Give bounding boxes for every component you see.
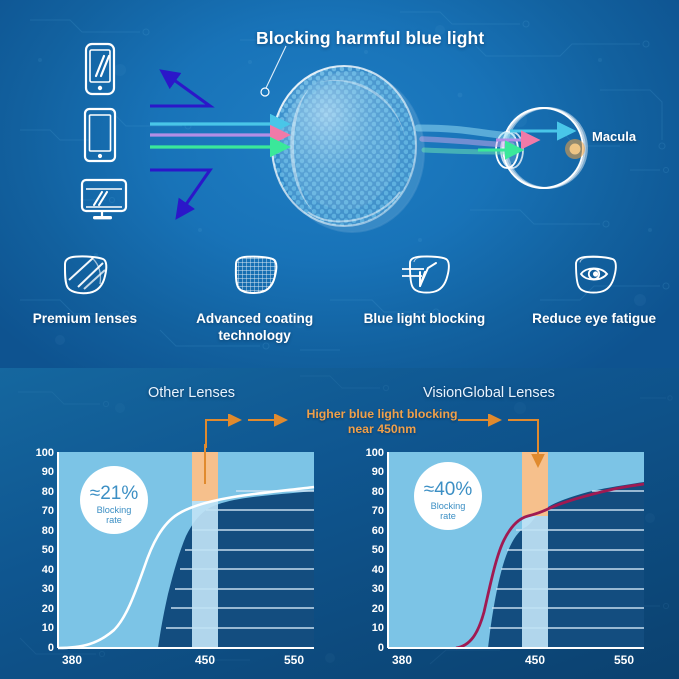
svg-text:50: 50 (372, 544, 384, 556)
svg-text:Blocking: Blocking (97, 505, 132, 515)
svg-text:90: 90 (372, 466, 384, 478)
blocking-rate-badge-left: ≈21% Blocking rate (80, 466, 148, 534)
chart-title-right: VisionGlobal Lenses (423, 385, 555, 401)
svg-text:50: 50 (42, 544, 54, 556)
svg-text:80: 80 (42, 486, 54, 498)
svg-text:80: 80 (42, 525, 54, 537)
feature-reduce-eye-fatigue: Reduce eye fatigue (509, 252, 679, 362)
svg-text:450: 450 (195, 653, 215, 667)
feature-blue-light-blocking: Blue light blocking (340, 252, 510, 362)
chart-title-left: Other Lenses (148, 385, 235, 401)
svg-text:100: 100 (366, 447, 384, 459)
svg-text:20: 20 (372, 603, 384, 615)
light-ray-diagram (0, 0, 679, 260)
infographic-root: Blocking harmful blue light (0, 0, 679, 679)
svg-text:10: 10 (42, 622, 54, 634)
feature-premium-lenses: Premium lenses (0, 252, 170, 362)
svg-text:rate: rate (106, 515, 122, 525)
svg-text:0: 0 (378, 642, 384, 654)
feature-label: Premium lenses (5, 311, 165, 328)
svg-text:20: 20 (42, 603, 54, 615)
lens-eye-icon (568, 252, 620, 298)
annotation-higher-blocking: Higher blue light blocking near 450nm (297, 407, 467, 437)
annotation-arrow-left (182, 414, 302, 454)
svg-text:30: 30 (42, 583, 54, 595)
svg-text:10: 10 (372, 622, 384, 634)
feature-label: Reduce eye fatigue (514, 311, 674, 328)
svg-text:380: 380 (392, 653, 412, 667)
feature-label: Blue light blocking (344, 311, 504, 328)
svg-text:40: 40 (372, 564, 384, 576)
lens-blocked-rays-icon (398, 252, 450, 298)
annotation-arrow-right (456, 414, 586, 482)
svg-text:80: 80 (372, 486, 384, 498)
svg-text:40: 40 (42, 564, 54, 576)
svg-text:380: 380 (62, 653, 82, 667)
svg-text:≈40%: ≈40% (424, 479, 473, 500)
chart-other-lenses: 1009080 708050 403020 100 380450550 ≈21%… (22, 444, 322, 674)
svg-text:70: 70 (372, 505, 384, 517)
svg-text:30: 30 (372, 583, 384, 595)
svg-text:rate: rate (440, 511, 456, 521)
svg-text:Blocking: Blocking (431, 501, 466, 511)
svg-text:450: 450 (525, 653, 545, 667)
feature-advanced-coating: Advanced coating technology (170, 252, 340, 362)
feature-label: Advanced coating technology (175, 311, 335, 344)
svg-text:550: 550 (284, 653, 304, 667)
svg-text:0: 0 (48, 642, 54, 654)
lens-mesh-coating-icon (230, 252, 280, 298)
svg-text:≈21%: ≈21% (90, 483, 139, 504)
svg-text:60: 60 (372, 525, 384, 537)
charts-section: Other Lenses VisionGlobal Lenses Higher … (0, 368, 679, 679)
svg-text:100: 100 (36, 447, 54, 459)
feature-list: Premium lenses Advanced c (0, 252, 679, 362)
svg-text:550: 550 (614, 653, 634, 667)
lens-shine-icon (60, 252, 110, 298)
svg-text:70: 70 (42, 505, 54, 517)
svg-text:90: 90 (42, 466, 54, 478)
